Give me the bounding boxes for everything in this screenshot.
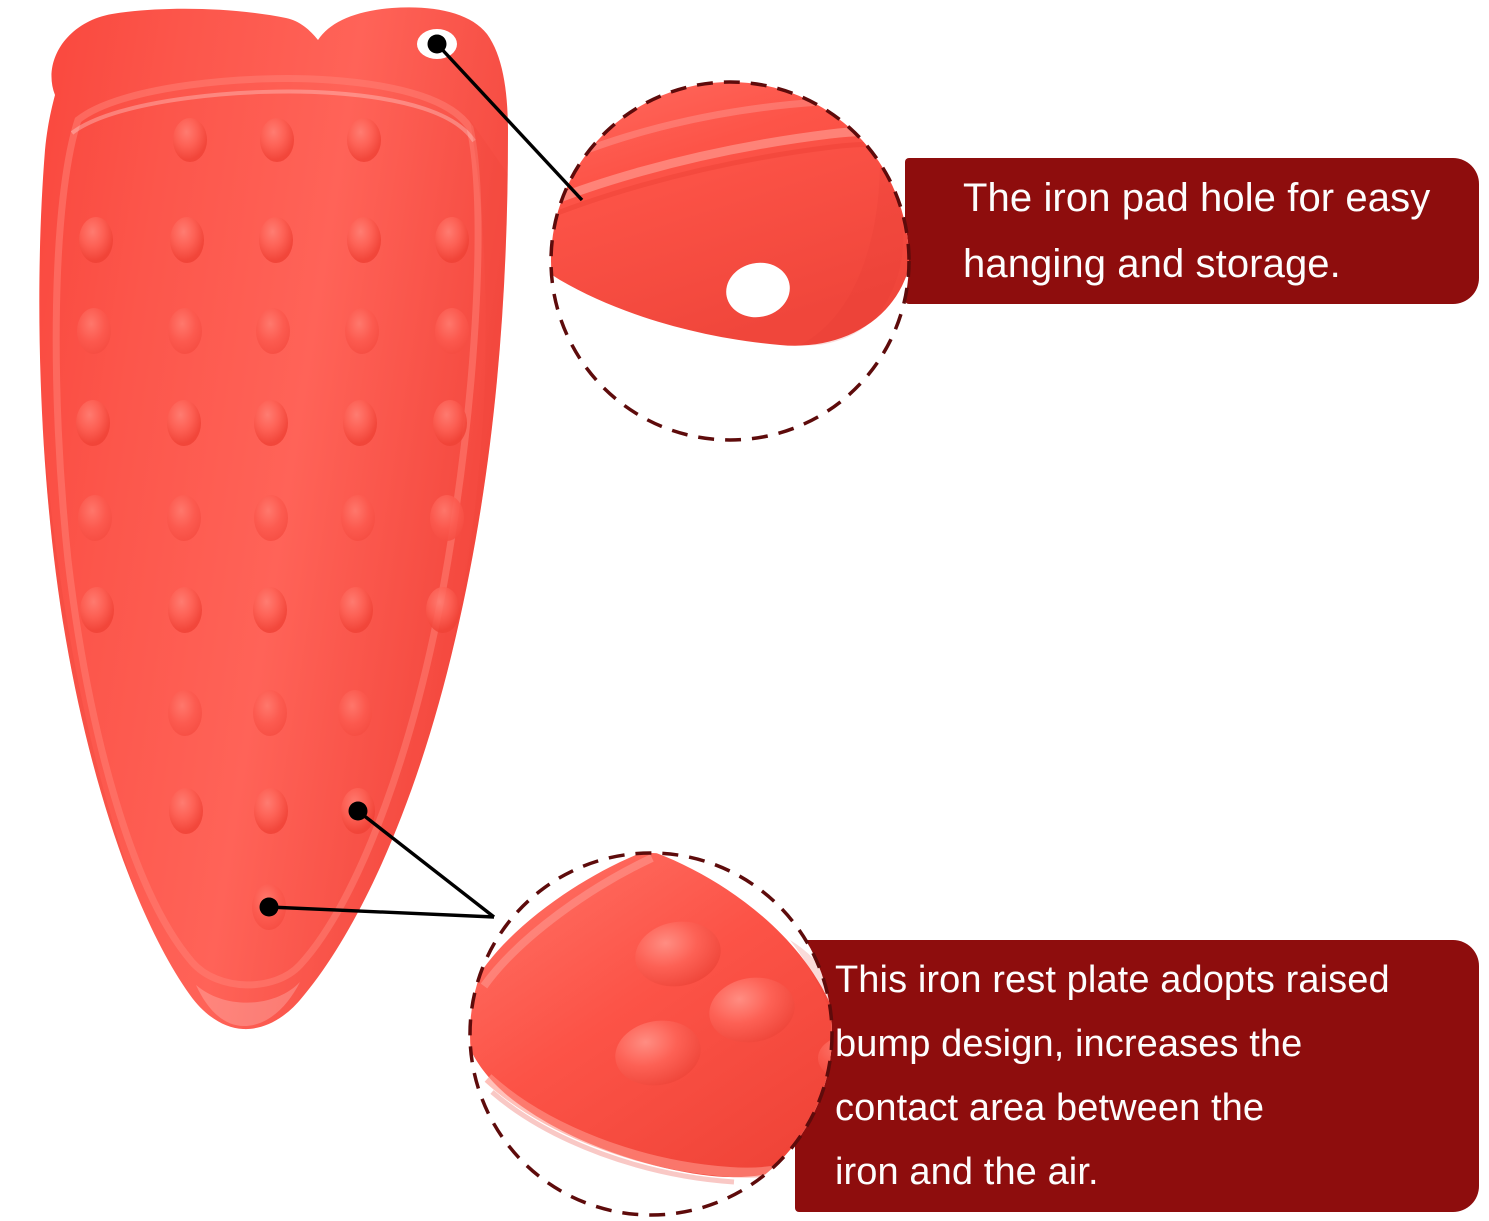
hole-leader-anchor-dot: [428, 35, 447, 54]
hole-zoom-circle: [488, 16, 920, 440]
magnified-bump-4: [808, 896, 868, 940]
bump-leader-lines: [260, 802, 495, 918]
bump-zoom-circle: [463, 850, 878, 1215]
callout-layer: [0, 0, 1489, 1221]
bump-leader-anchor-dot-1: [349, 802, 368, 821]
infographic-canvas: The iron pad hole for easy hanging and s…: [0, 0, 1489, 1221]
bump-leader-anchor-dot-2: [260, 898, 279, 917]
hole-leader-line: [428, 35, 583, 201]
